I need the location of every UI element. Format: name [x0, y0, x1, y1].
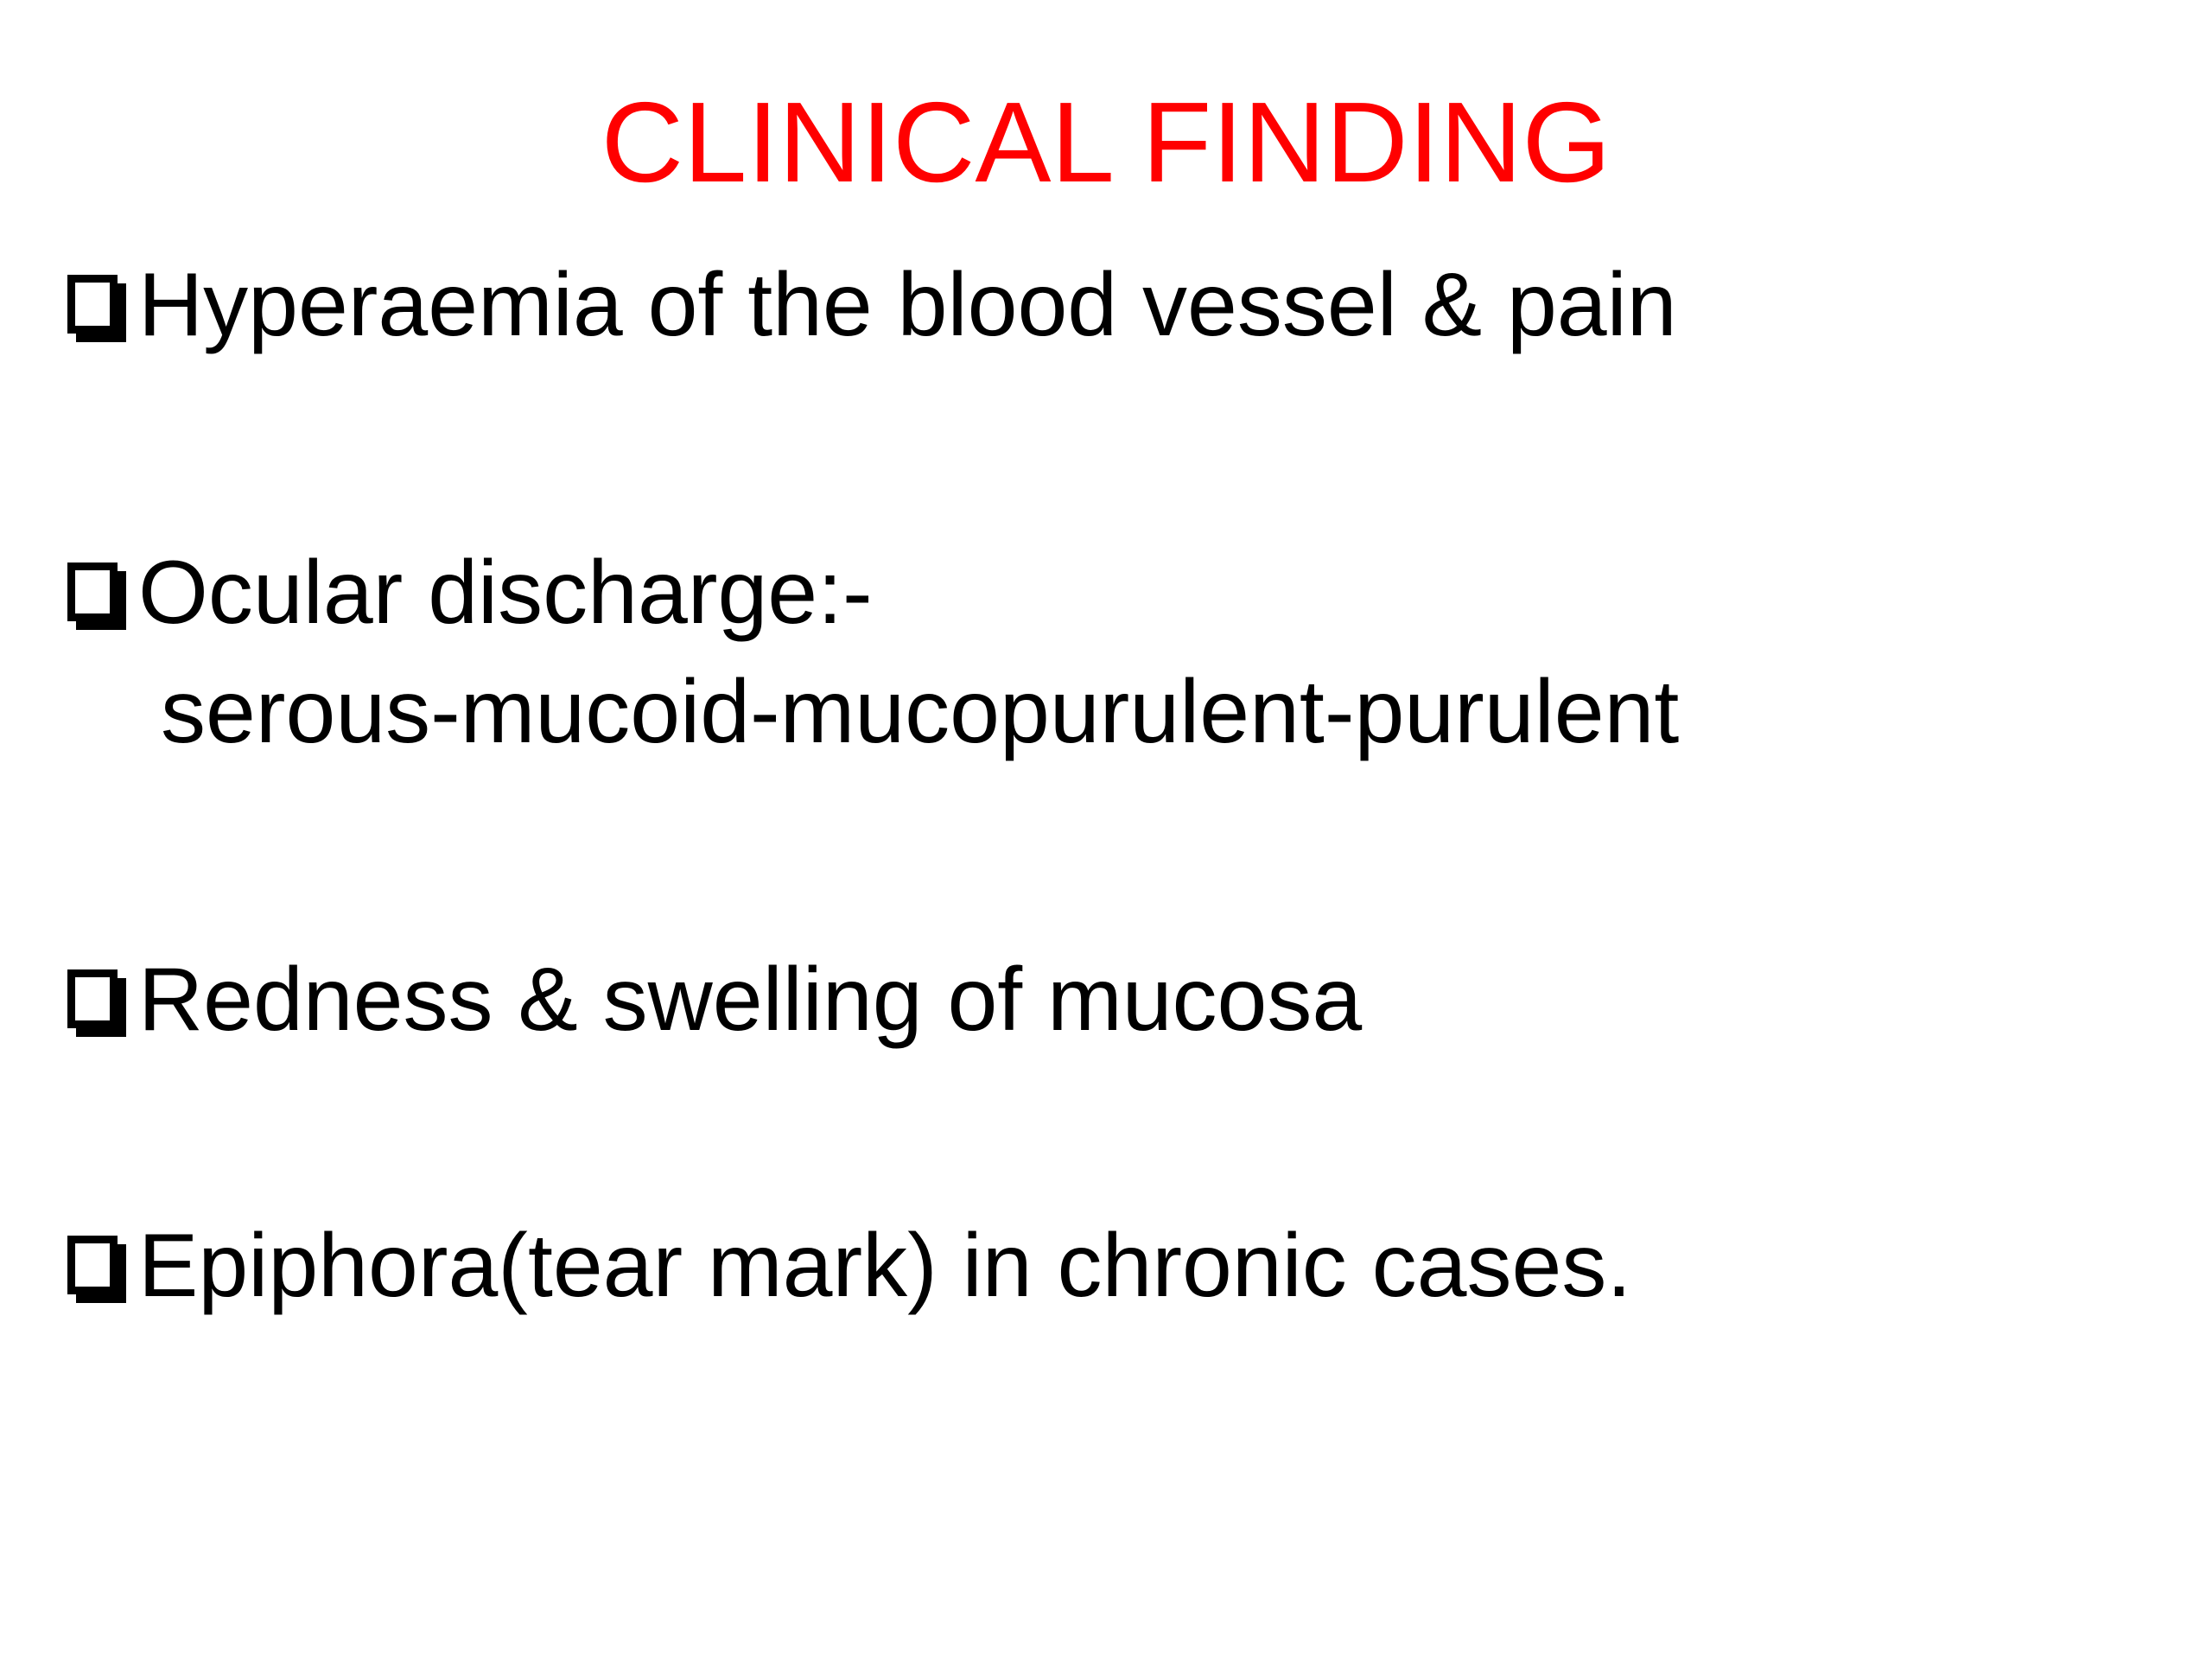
list-item: Redness & swelling of mucosa [67, 947, 2158, 1053]
spacer [67, 1053, 2158, 1213]
spacer [67, 766, 2158, 947]
hollow-square-bullet-icon [67, 1236, 126, 1305]
list-item-label: Hyperaemia of the blood vessel & pain [138, 252, 1677, 359]
list-item: Hyperaemia of the blood vessel & pain [67, 252, 2158, 359]
spacer [67, 645, 2158, 659]
slide-canvas: CLINICAL FINDING Hyperaemia of the blood… [0, 0, 2212, 1659]
list-item: Epiphora(tear mark) in chronic cases. [67, 1213, 2158, 1319]
list-item-label: Epiphora(tear mark) in chronic cases. [138, 1213, 1631, 1319]
hollow-square-bullet-icon [67, 563, 126, 632]
spacer [67, 359, 2158, 540]
list-item-continuation: serous-mucoid-mucopurulent-purulent [67, 659, 2158, 766]
hollow-square-bullet-icon [67, 969, 126, 1039]
list-item-label: Ocular discharge:- [138, 540, 873, 646]
bullet-list: Hyperaemia of the blood vessel & pain Oc… [67, 252, 2158, 1319]
hollow-square-bullet-icon [67, 275, 126, 344]
list-item: Ocular discharge:- [67, 540, 2158, 646]
list-item-label: Redness & swelling of mucosa [138, 947, 1362, 1053]
page-title: CLINICAL FINDING [0, 83, 2212, 203]
